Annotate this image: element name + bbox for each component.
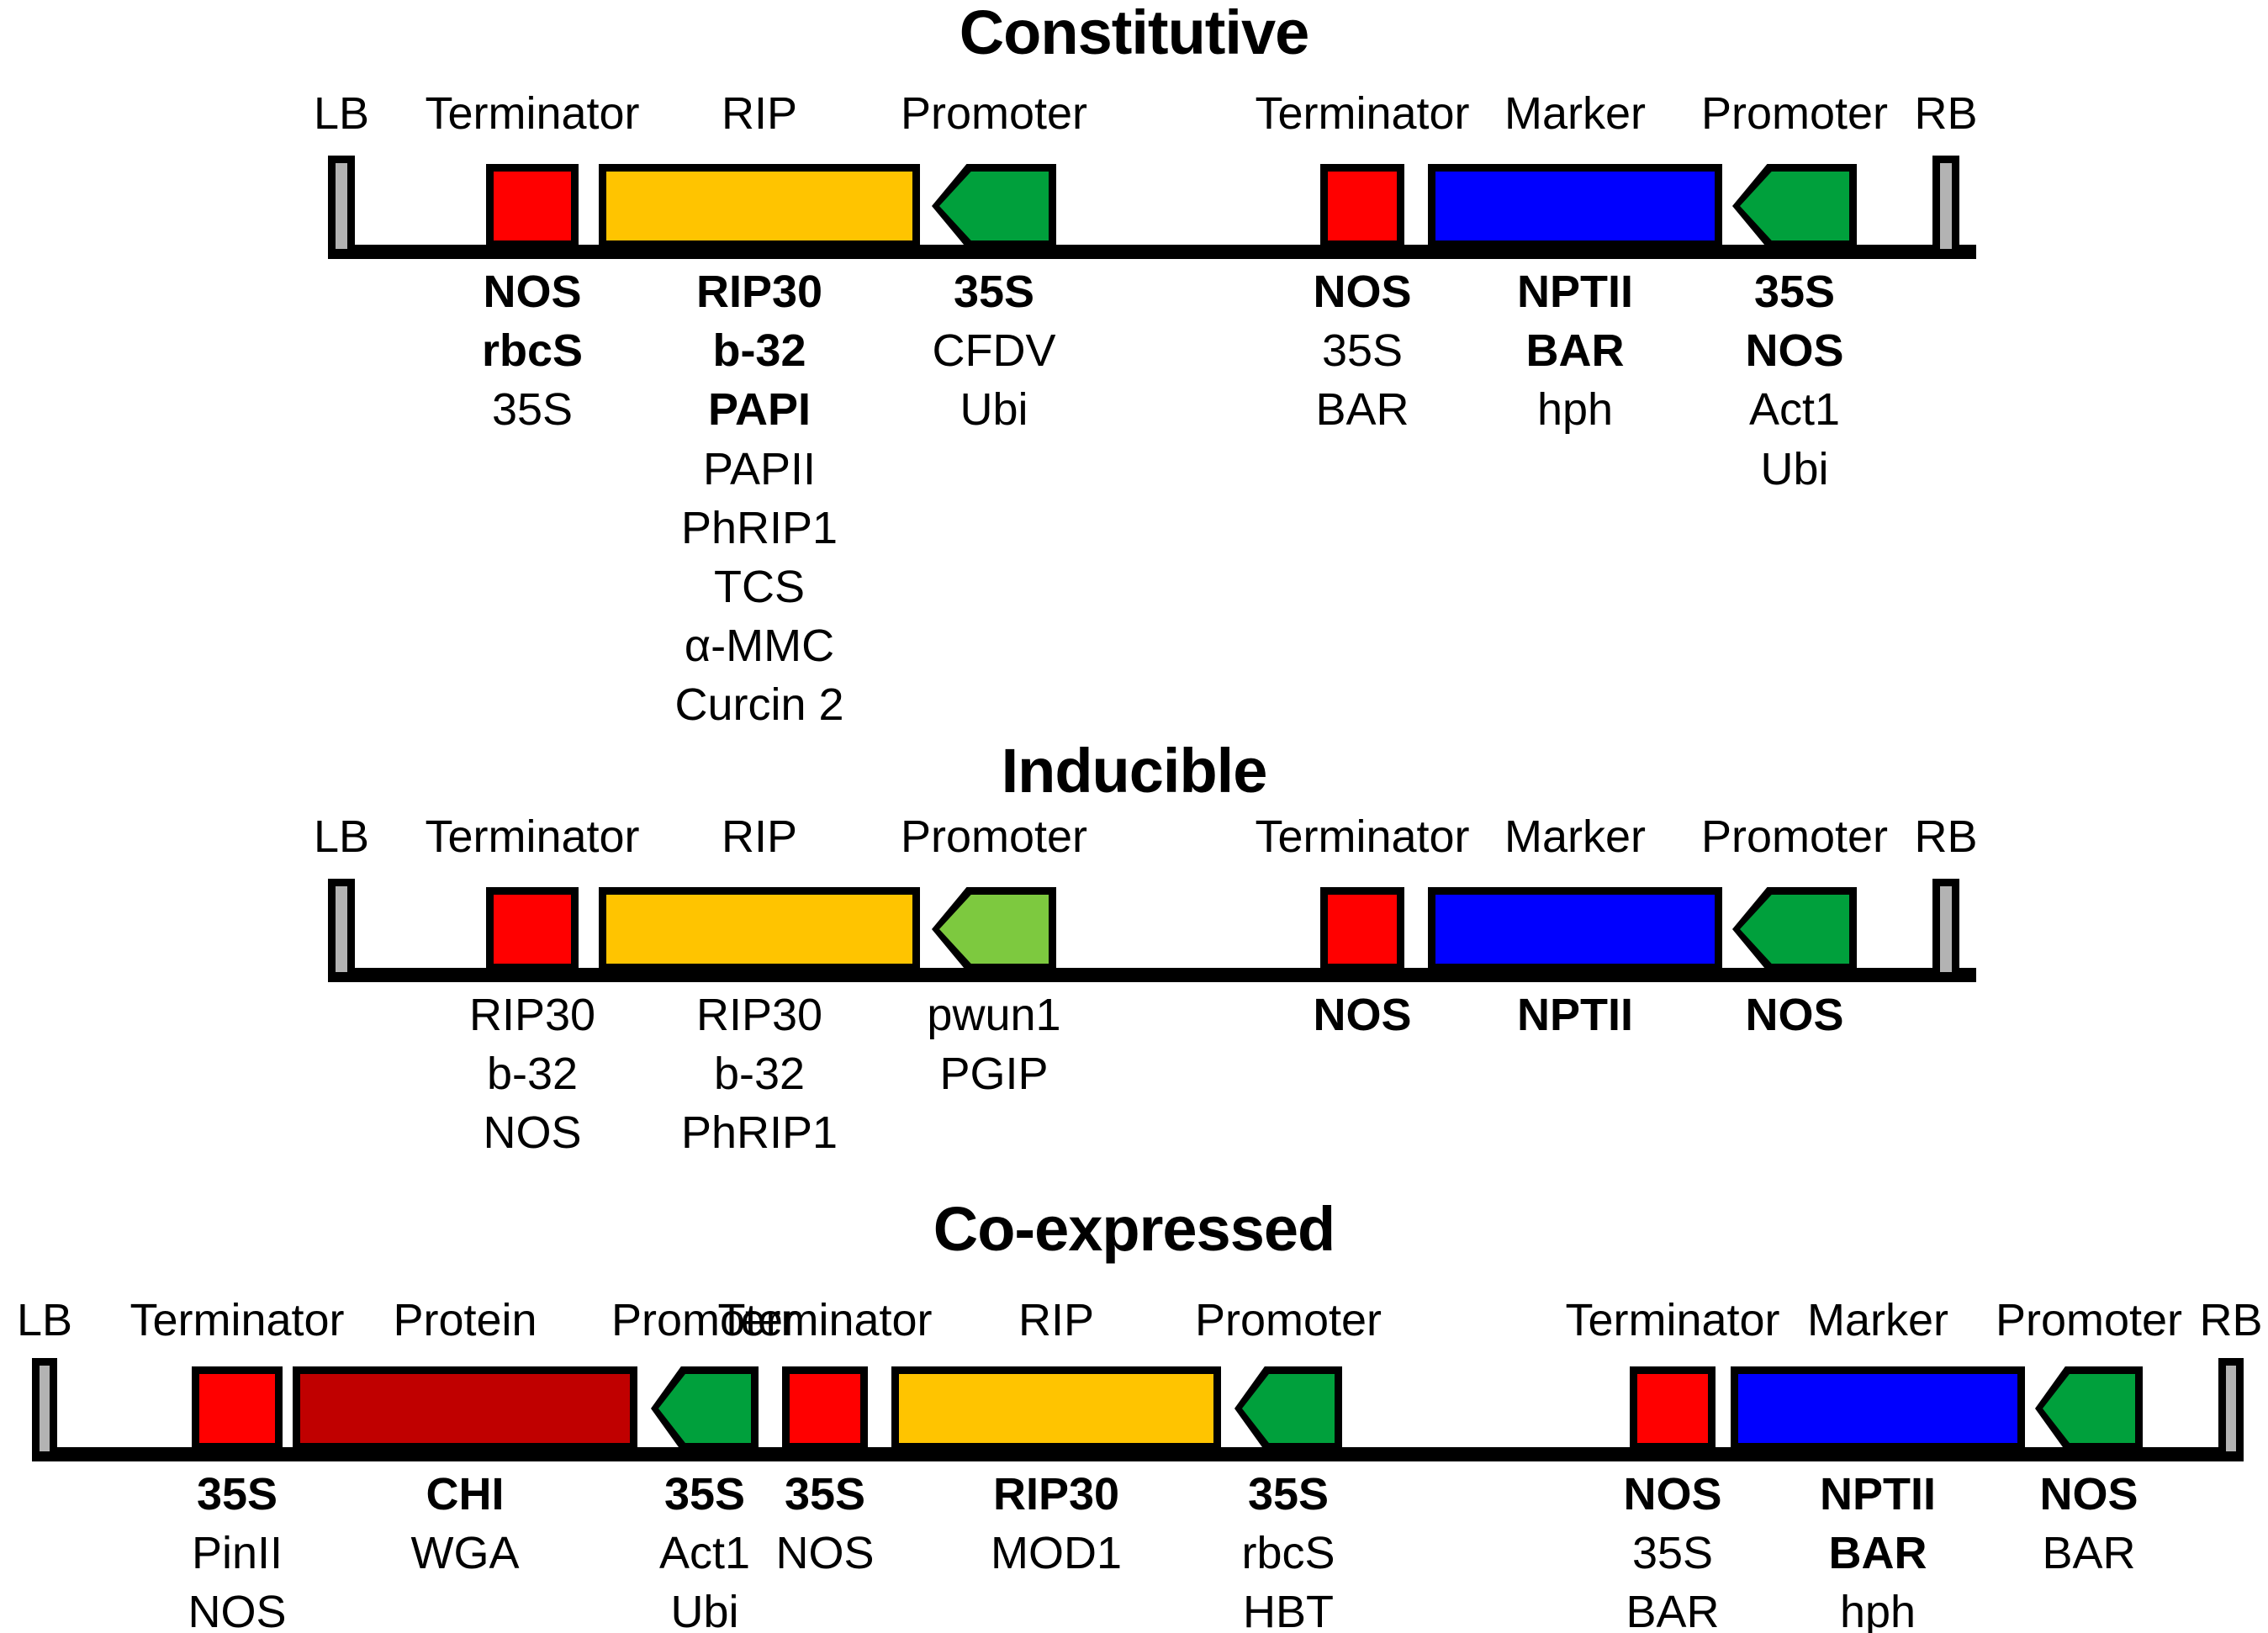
feature-fill bbox=[1940, 886, 1952, 972]
feature-fill bbox=[1637, 1374, 1708, 1443]
feature-name: pwun1 bbox=[784, 986, 1204, 1044]
feature-promoter bbox=[932, 887, 1056, 971]
feature-name: NOS bbox=[1584, 321, 2005, 380]
feature-header-label: RB bbox=[1694, 814, 2198, 859]
feature-name: 35S bbox=[1584, 262, 2005, 321]
feature-name: PhRIP1 bbox=[549, 1103, 970, 1162]
panel-title: Co-expressed bbox=[0, 1198, 2268, 1260]
feature-rb bbox=[1932, 156, 1959, 256]
feature-promoter bbox=[1234, 1366, 1342, 1451]
feature-promoter bbox=[1732, 164, 1857, 248]
feature-fill bbox=[2226, 1366, 2236, 1451]
feature-terminator bbox=[486, 164, 579, 248]
feature-fill bbox=[606, 172, 912, 240]
feature-terminator bbox=[1320, 887, 1404, 971]
feature-fill bbox=[336, 163, 347, 249]
feature-name-list: NOSBAR bbox=[1879, 1465, 2268, 1583]
feature-fill bbox=[790, 1374, 860, 1443]
feature-fill bbox=[606, 895, 912, 964]
feature-name: Ubi bbox=[1584, 440, 2005, 499]
feature-name-list: 35SNOSAct1Ubi bbox=[1584, 262, 2005, 499]
panel-title: Constitutive bbox=[0, 2, 2268, 64]
feature-rb bbox=[1932, 879, 1959, 980]
feature-terminator bbox=[1320, 164, 1404, 248]
feature-name: Act1 bbox=[1584, 380, 2005, 439]
feature-fill bbox=[199, 1374, 275, 1443]
feature-name: 35S bbox=[1078, 1465, 1499, 1524]
feature-rip bbox=[599, 164, 920, 248]
feature-name: PhRIP1 bbox=[549, 499, 970, 558]
feature-fill bbox=[1328, 172, 1397, 240]
feature-lb bbox=[328, 879, 355, 980]
feature-fill bbox=[1435, 172, 1715, 240]
feature-name: hph bbox=[1668, 1583, 2088, 1633]
feature-name: PGIP bbox=[784, 1044, 1204, 1103]
feature-name: NOS bbox=[1879, 1465, 2268, 1524]
feature-name-list: 35SrbcSHBT bbox=[1078, 1465, 1499, 1633]
feature-marker bbox=[1428, 887, 1722, 971]
feature-marker bbox=[1428, 164, 1722, 248]
feature-name: TCS bbox=[549, 558, 970, 616]
feature-name: 35S bbox=[784, 262, 1204, 321]
feature-fill bbox=[1940, 163, 1952, 249]
feature-name: NOS bbox=[27, 1583, 447, 1633]
feature-lb bbox=[32, 1358, 57, 1459]
feature-name-list: pwun1PGIP bbox=[784, 986, 1204, 1103]
panel-title: Inducible bbox=[0, 740, 2268, 802]
feature-fill bbox=[40, 1366, 50, 1451]
feature-name: Curcin 2 bbox=[549, 675, 970, 734]
feature-name-list: 35SCFDVUbi bbox=[784, 262, 1204, 440]
feature-name-list: NOS bbox=[1584, 986, 2005, 1044]
feature-fill bbox=[899, 1374, 1213, 1443]
feature-name: Ubi bbox=[784, 380, 1204, 439]
feature-name: BAR bbox=[1879, 1524, 2268, 1583]
feature-fill bbox=[1435, 895, 1715, 964]
feature-promoter bbox=[2035, 1366, 2143, 1451]
feature-name: Ubi bbox=[494, 1583, 915, 1633]
feature-name: CFDV bbox=[784, 321, 1204, 380]
feature-marker bbox=[1731, 1366, 2025, 1451]
feature-name: α-MMC bbox=[549, 616, 970, 675]
feature-fill bbox=[1738, 1374, 2017, 1443]
feature-header-label: RB bbox=[1694, 91, 2198, 136]
feature-header-label: RB bbox=[1979, 1297, 2268, 1343]
feature-promoter bbox=[932, 164, 1056, 248]
feature-fill bbox=[494, 172, 571, 240]
feature-fill bbox=[494, 895, 571, 964]
feature-rip bbox=[599, 887, 920, 971]
feature-terminator bbox=[782, 1366, 868, 1451]
feature-name: HBT bbox=[1078, 1583, 1499, 1633]
feature-name: NOS bbox=[1584, 986, 2005, 1044]
feature-terminator bbox=[192, 1366, 283, 1451]
feature-protein bbox=[293, 1366, 637, 1451]
feature-promoter bbox=[651, 1366, 759, 1451]
feature-fill bbox=[300, 1374, 630, 1443]
feature-name: PAPII bbox=[549, 440, 970, 499]
feature-terminator bbox=[486, 887, 579, 971]
feature-promoter bbox=[1732, 887, 1857, 971]
figure-root: ConstitutiveLBTerminatorNOSrbcS35SRIPRIP… bbox=[0, 0, 2268, 1633]
feature-fill bbox=[336, 886, 347, 972]
feature-lb bbox=[328, 156, 355, 256]
feature-fill bbox=[1328, 895, 1397, 964]
feature-name: rbcS bbox=[1078, 1524, 1499, 1583]
feature-terminator bbox=[1630, 1366, 1716, 1451]
feature-rip bbox=[891, 1366, 1221, 1451]
feature-rb bbox=[2218, 1358, 2244, 1459]
